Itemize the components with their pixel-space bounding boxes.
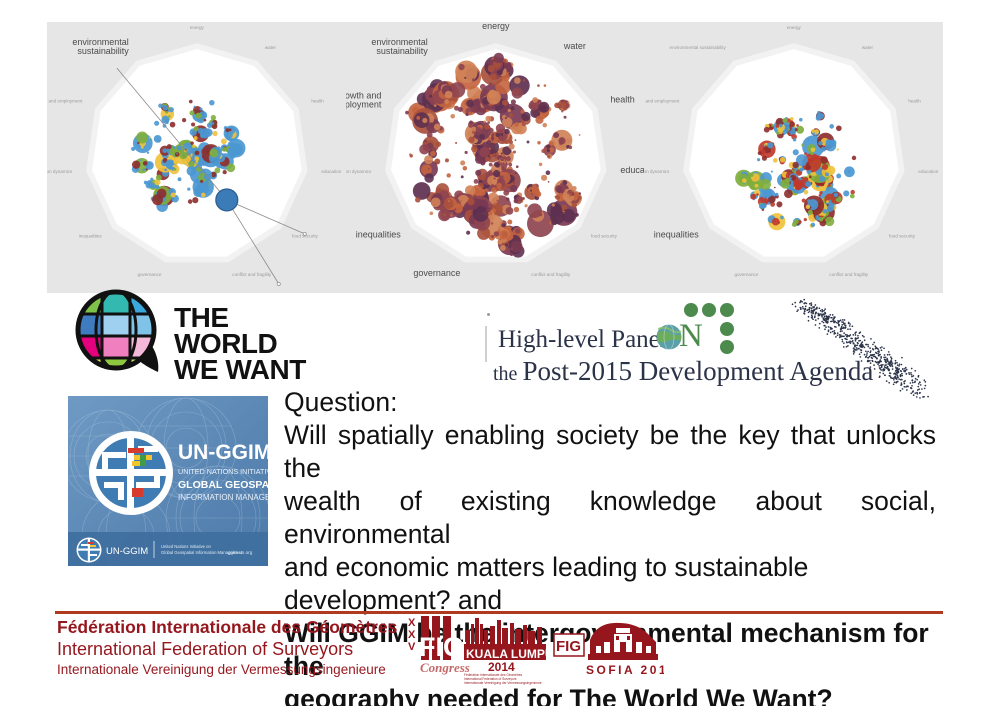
svg-text:conflict and fragility: conflict and fragility — [531, 272, 571, 277]
fig-congress-roman-1: X — [408, 617, 416, 629]
fig-congress-city: KUALA LUMPUR — [466, 647, 548, 661]
fig-name-english: International Federation of Surveyors — [57, 638, 407, 660]
fig-congress-roman-3: V — [408, 641, 416, 653]
svg-text:inequalities: inequalities — [654, 229, 699, 239]
question-label: Question: — [284, 386, 936, 419]
un-ggim-footer-text-1: United Nations Initiative on — [161, 544, 211, 549]
svg-text:education: education — [321, 169, 341, 174]
bubble-chart-right: energywaterhealtheducationfood securityc… — [644, 22, 943, 293]
slide-canvas: energywaterhealtheducationfood securityc… — [0, 0, 1000, 706]
fig-congress-fineprint-3: Internationale Vereinigung der Vermessun… — [464, 681, 542, 685]
svg-text:governance: governance — [137, 272, 161, 277]
svg-text:governance: governance — [735, 272, 759, 277]
svg-text:conflict and fragility: conflict and fragility — [232, 272, 272, 277]
fig-sofia-acronym: FIG — [556, 638, 581, 655]
fig-organisation-names: Fédération Internationale des Géomètres … — [57, 617, 407, 679]
fig-congress-roman-2: X — [408, 629, 416, 641]
fig-sofia-city-year: SOFIA 2015 — [586, 663, 664, 677]
bubble-chart-panel: energywaterhealtheducationfood securityc… — [47, 22, 943, 293]
svg-text:health: health — [311, 99, 324, 104]
svg-text:growth and employment: growth and employment — [47, 99, 83, 104]
bubble-chart-left-svg: energywaterhealtheducationfood securityc… — [47, 22, 346, 293]
hlp-line-1: High-level Panel — [498, 326, 667, 354]
svg-text:growth and employment: growth and employment — [644, 99, 680, 104]
world-we-want-globe-icon — [74, 288, 166, 380]
svg-text:energy: energy — [190, 25, 205, 30]
un-ggim-footer-brand: UN-GGIM — [106, 546, 148, 557]
un-ggim-card: UN-GGIM UNITED NATIONS INITIATIVE ON GLO… — [68, 396, 268, 566]
hlp-line2-rest: Post-2015 Development Agenda — [522, 356, 873, 386]
svg-text:population dynamics: population dynamics — [47, 169, 73, 174]
svg-text:water: water — [563, 41, 586, 51]
kuala-lumpur-skyline-icon — [464, 618, 546, 646]
svg-text:food security: food security — [889, 233, 916, 238]
svg-text:energy: energy — [787, 25, 802, 30]
fig-congress-acronym: FIG — [419, 632, 464, 662]
high-level-panel-logo: High-level Panel N the Post-2015 — [478, 306, 940, 396]
svg-text:health: health — [909, 99, 922, 104]
question-line-2: wealth of existing knowledge about socia… — [284, 485, 936, 551]
bubble-chart-center-svg: energywaterhealtheducationfood securityc… — [346, 22, 645, 293]
svg-text:environmental sustainability: environmental sustainability — [670, 45, 727, 50]
question-line-1: Will spatially enabling society be the k… — [284, 419, 936, 485]
svg-text:education: education — [919, 169, 939, 174]
www-line-2: WORLD — [174, 331, 306, 357]
svg-text:water: water — [862, 45, 874, 50]
un-ggim-card-svg: UN-GGIM UNITED NATIONS INITIATIVE ON GLO… — [68, 396, 268, 566]
fig-name-german: Internationale Vereinigung der Vermessun… — [57, 660, 407, 679]
fig-sofia-2015-logo: FIG SOFIA 2015 — [552, 620, 664, 682]
hlp-line-2: the Post-2015 Development Agenda — [493, 356, 873, 387]
fig-congress-kuala-lumpur-logo: X X V FIG Congress KUALA LUMPUR 2014 Féd… — [406, 614, 548, 686]
hlp-decorative-dot — [487, 313, 490, 316]
un-ggim-subtitle-2: GLOBAL GEOSPATIAL — [178, 479, 268, 491]
un-ggim-subtitle-1: UNITED NATIONS INITIATIVE ON — [178, 467, 268, 476]
www-line-1: THE — [174, 305, 306, 331]
svg-text:conflict and fragility: conflict and fragility — [830, 272, 870, 277]
bubble-chart-center: energywaterhealtheducationfood securityc… — [346, 22, 645, 293]
world-we-want-logo: THE WORLD WE WANT — [74, 293, 324, 373]
svg-text:governance: governance — [413, 268, 460, 278]
question-bold-line-2: geography needed for The World We Want? — [284, 683, 936, 706]
svg-text:inequalities: inequalities — [355, 229, 400, 239]
svg-text:inequalities: inequalities — [79, 233, 103, 238]
fig-name-french: Fédération Internationale des Géomètres — [57, 617, 407, 638]
un-ggim-subtitle-3: INFORMATION MANAGEMENT — [178, 493, 268, 502]
svg-text:sustainability: sustainability — [376, 46, 428, 56]
hlp-line2-the: the — [493, 363, 522, 385]
question-line-3: and economic matters leading to sustaina… — [284, 551, 936, 584]
svg-text:education: education — [620, 165, 644, 175]
svg-text:water: water — [265, 45, 277, 50]
svg-text:food security: food security — [591, 233, 618, 238]
un-ggim-title: UN-GGIM — [178, 441, 268, 464]
svg-text:employment: employment — [346, 100, 382, 110]
bubble-chart-right-svg: energywaterhealtheducationfood securityc… — [644, 22, 943, 293]
svg-text:energy: energy — [482, 22, 510, 31]
www-line-3: WE WANT — [174, 357, 306, 383]
bubble-chart-left: energywaterhealtheducationfood securityc… — [47, 22, 346, 293]
svg-text:population dynamics: population dynamics — [644, 169, 670, 174]
un-ggim-footer-url: ggim.un.org — [228, 550, 253, 555]
fig-congress-year: 2014 — [488, 660, 515, 674]
fig-congress-word: Congress — [420, 660, 470, 675]
svg-text:sustainability: sustainability — [77, 46, 129, 56]
hlp-dots-icon — [681, 300, 741, 358]
svg-text:health: health — [610, 95, 634, 105]
world-we-want-wordmark: THE WORLD WE WANT — [174, 305, 306, 382]
svg-text:population dynamics: population dynamics — [346, 169, 372, 174]
hlp-divider — [485, 326, 487, 362]
